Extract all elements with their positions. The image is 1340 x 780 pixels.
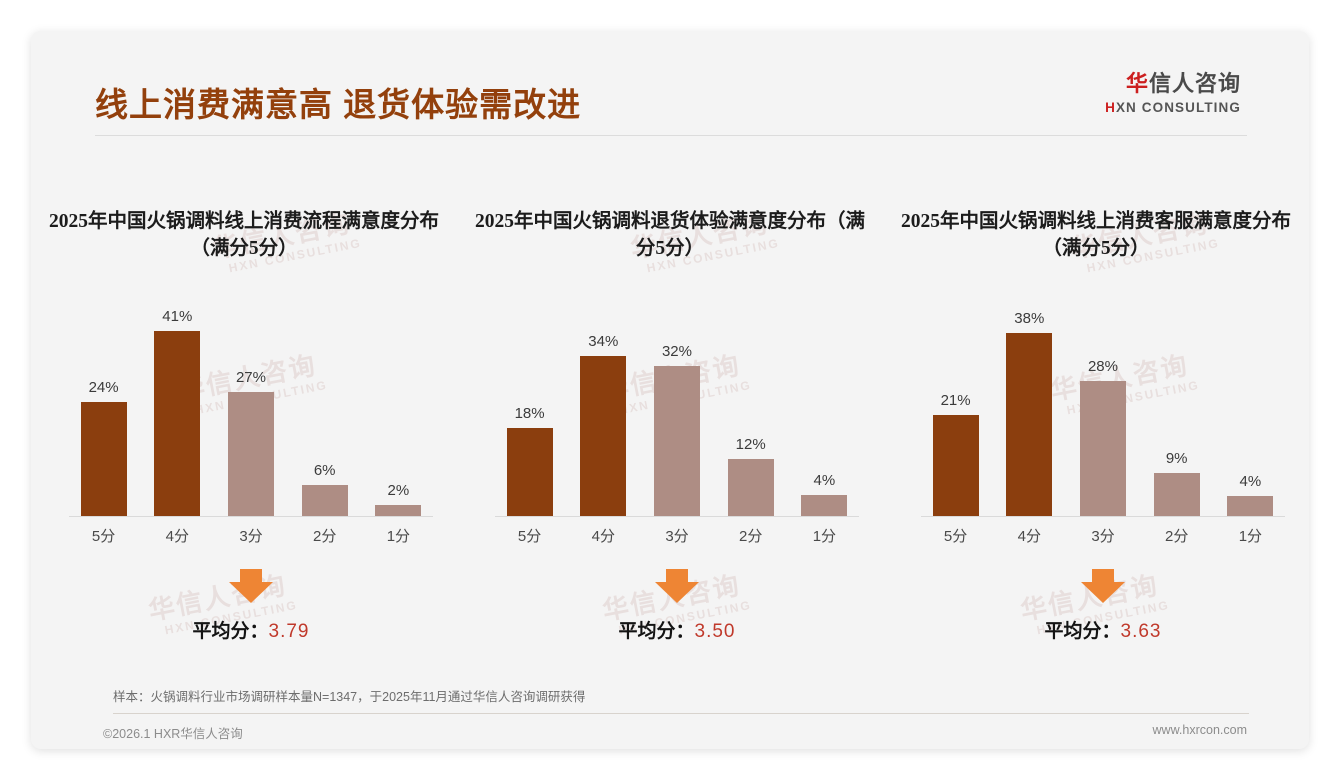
x-axis-tick: 2分 bbox=[1142, 525, 1211, 546]
source-footnote: 样本：火锅调料行业市场调研样本量N=1347，于2025年11月通过华信人咨询调… bbox=[113, 686, 585, 705]
average-score: 平均分：3.50 bbox=[495, 616, 859, 643]
bar[interactable] bbox=[728, 459, 774, 516]
bar-value-label: 34% bbox=[588, 333, 618, 350]
bar-group: 2% bbox=[364, 301, 433, 516]
footer-url[interactable]: www.hxrcon.com bbox=[1153, 723, 1247, 737]
bar-group: 38% bbox=[995, 301, 1064, 516]
bar[interactable] bbox=[1154, 473, 1200, 516]
x-axis: 5分 4分 3分 2分 1分 bbox=[495, 525, 859, 546]
logo-en-rest: XN CONSULTING bbox=[1116, 100, 1241, 115]
bar-group: 24% bbox=[69, 301, 138, 516]
x-axis-tick: 1分 bbox=[364, 525, 433, 546]
bar[interactable] bbox=[1006, 333, 1052, 516]
arrow-container bbox=[495, 569, 859, 603]
page-title: 线上消费满意高 退货体验需改进 bbox=[95, 78, 581, 126]
average-value: 3.63 bbox=[1121, 621, 1162, 642]
arrow-head bbox=[655, 582, 699, 603]
average-value: 3.79 bbox=[269, 621, 310, 642]
arrow-head bbox=[1081, 582, 1125, 603]
bar[interactable] bbox=[933, 415, 979, 516]
charts-row: 2025年中国火锅调料线上消费流程满意度分布（满分5分） 24% 41% 27% bbox=[31, 161, 1309, 681]
bar-group: 27% bbox=[216, 301, 285, 516]
axis-baseline bbox=[69, 516, 433, 517]
bar-value-label: 38% bbox=[1014, 310, 1044, 327]
bar[interactable] bbox=[1080, 381, 1126, 516]
down-arrow-icon bbox=[1081, 569, 1125, 603]
footer-divider bbox=[113, 713, 1249, 714]
plot-area: 21% 38% 28% 9% bbox=[921, 301, 1285, 516]
bar-value-label: 28% bbox=[1088, 358, 1118, 375]
bar-chart-3: 21% 38% 28% 9% bbox=[921, 301, 1285, 546]
bar-value-label: 18% bbox=[515, 405, 545, 422]
company-logo: 华信人咨询 HXN CONSULTING bbox=[1105, 73, 1241, 115]
bar[interactable] bbox=[507, 428, 553, 516]
bar-group: 21% bbox=[921, 301, 990, 516]
x-axis-tick: 3分 bbox=[216, 525, 285, 546]
bar[interactable] bbox=[801, 495, 847, 516]
bar-group: 4% bbox=[790, 301, 859, 516]
bar-group: 18% bbox=[495, 301, 564, 516]
average-label: 平均分： bbox=[193, 621, 269, 642]
x-axis-tick: 4分 bbox=[569, 525, 638, 546]
x-axis-tick: 2分 bbox=[716, 525, 785, 546]
arrow-head bbox=[229, 582, 273, 603]
bar[interactable] bbox=[228, 392, 274, 516]
chart-title: 2025年中国火锅调料线上消费流程满意度分布（满分5分） bbox=[43, 209, 445, 263]
logo-chinese-text: 华信人咨询 bbox=[1105, 73, 1241, 95]
bar-value-label: 4% bbox=[1240, 473, 1262, 490]
bar-group: 41% bbox=[143, 301, 212, 516]
chart-title: 2025年中国火锅调料退货体验满意度分布（满分5分） bbox=[469, 209, 871, 263]
bar-group: 34% bbox=[569, 301, 638, 516]
x-axis: 5分 4分 3分 2分 1分 bbox=[69, 525, 433, 546]
bar-value-label: 24% bbox=[89, 379, 119, 396]
plot-area: 18% 34% 32% 12% bbox=[495, 301, 859, 516]
bar[interactable] bbox=[302, 485, 348, 516]
bar-value-label: 4% bbox=[814, 472, 836, 489]
average-label: 平均分： bbox=[1045, 621, 1121, 642]
chart-panel-3: 2025年中国火锅调料线上消费客服满意度分布（满分5分） 21% 38% 28% bbox=[883, 161, 1309, 681]
bar-value-label: 6% bbox=[314, 462, 336, 479]
x-axis-tick: 4分 bbox=[143, 525, 212, 546]
bar-value-label: 9% bbox=[1166, 450, 1188, 467]
axis-baseline bbox=[495, 516, 859, 517]
x-axis-tick: 2分 bbox=[290, 525, 359, 546]
bar[interactable] bbox=[654, 366, 700, 516]
x-axis: 5分 4分 3分 2分 1分 bbox=[921, 525, 1285, 546]
logo-hua-char: 华 bbox=[1126, 71, 1149, 96]
bar[interactable] bbox=[375, 505, 421, 516]
chart-panel-2: 2025年中国火锅调料退货体验满意度分布（满分5分） 18% 34% 32% bbox=[457, 161, 883, 681]
chart-title: 2025年中国火锅调料线上消费客服满意度分布（满分5分） bbox=[895, 209, 1297, 263]
average-score: 平均分：3.79 bbox=[69, 616, 433, 643]
x-axis-tick: 5分 bbox=[495, 525, 564, 546]
x-axis-tick: 3分 bbox=[642, 525, 711, 546]
bar-value-label: 27% bbox=[236, 369, 266, 386]
slide-header: 线上消费满意高 退货体验需改进 华信人咨询 HXN CONSULTING bbox=[31, 31, 1309, 131]
average-label: 平均分： bbox=[619, 621, 695, 642]
bar-group: 9% bbox=[1142, 301, 1211, 516]
x-axis-tick: 3分 bbox=[1068, 525, 1137, 546]
logo-h-char: H bbox=[1105, 100, 1116, 115]
axis-baseline bbox=[921, 516, 1285, 517]
bar-value-label: 32% bbox=[662, 343, 692, 360]
slide-card: 华信人咨询 HXN CONSULTING 华信人咨询 HXN CONSULTIN… bbox=[31, 31, 1309, 749]
x-axis-tick: 5分 bbox=[921, 525, 990, 546]
bar-value-label: 21% bbox=[941, 392, 971, 409]
x-axis-tick: 4分 bbox=[995, 525, 1064, 546]
arrow-container bbox=[921, 569, 1285, 603]
bar-group: 4% bbox=[1216, 301, 1285, 516]
x-axis-tick: 1分 bbox=[790, 525, 859, 546]
bar[interactable] bbox=[580, 356, 626, 516]
bar[interactable] bbox=[154, 331, 200, 516]
bar-chart-1: 24% 41% 27% 6% bbox=[69, 301, 433, 546]
logo-english-text: HXN CONSULTING bbox=[1105, 101, 1241, 115]
bar[interactable] bbox=[1227, 496, 1273, 516]
bar-group: 28% bbox=[1068, 301, 1137, 516]
down-arrow-icon bbox=[655, 569, 699, 603]
footer-copyright: ©2026.1 HXR华信人咨询 bbox=[103, 723, 243, 742]
bar-group: 6% bbox=[290, 301, 359, 516]
bar[interactable] bbox=[81, 402, 127, 516]
average-score: 平均分：3.63 bbox=[921, 616, 1285, 643]
logo-cn-rest: 信人咨询 bbox=[1149, 71, 1241, 96]
down-arrow-icon bbox=[229, 569, 273, 603]
chart-panel-1: 2025年中国火锅调料线上消费流程满意度分布（满分5分） 24% 41% 27% bbox=[31, 161, 457, 681]
plot-area: 24% 41% 27% 6% bbox=[69, 301, 433, 516]
bar-value-label: 41% bbox=[162, 308, 192, 325]
header-divider bbox=[95, 135, 1247, 136]
bar-chart-2: 18% 34% 32% 12% bbox=[495, 301, 859, 546]
bar-value-label: 12% bbox=[736, 436, 766, 453]
arrow-container bbox=[69, 569, 433, 603]
x-axis-tick: 5分 bbox=[69, 525, 138, 546]
bar-value-label: 2% bbox=[388, 482, 410, 499]
x-axis-tick: 1分 bbox=[1216, 525, 1285, 546]
average-value: 3.50 bbox=[695, 621, 736, 642]
bar-group: 32% bbox=[642, 301, 711, 516]
bar-group: 12% bbox=[716, 301, 785, 516]
